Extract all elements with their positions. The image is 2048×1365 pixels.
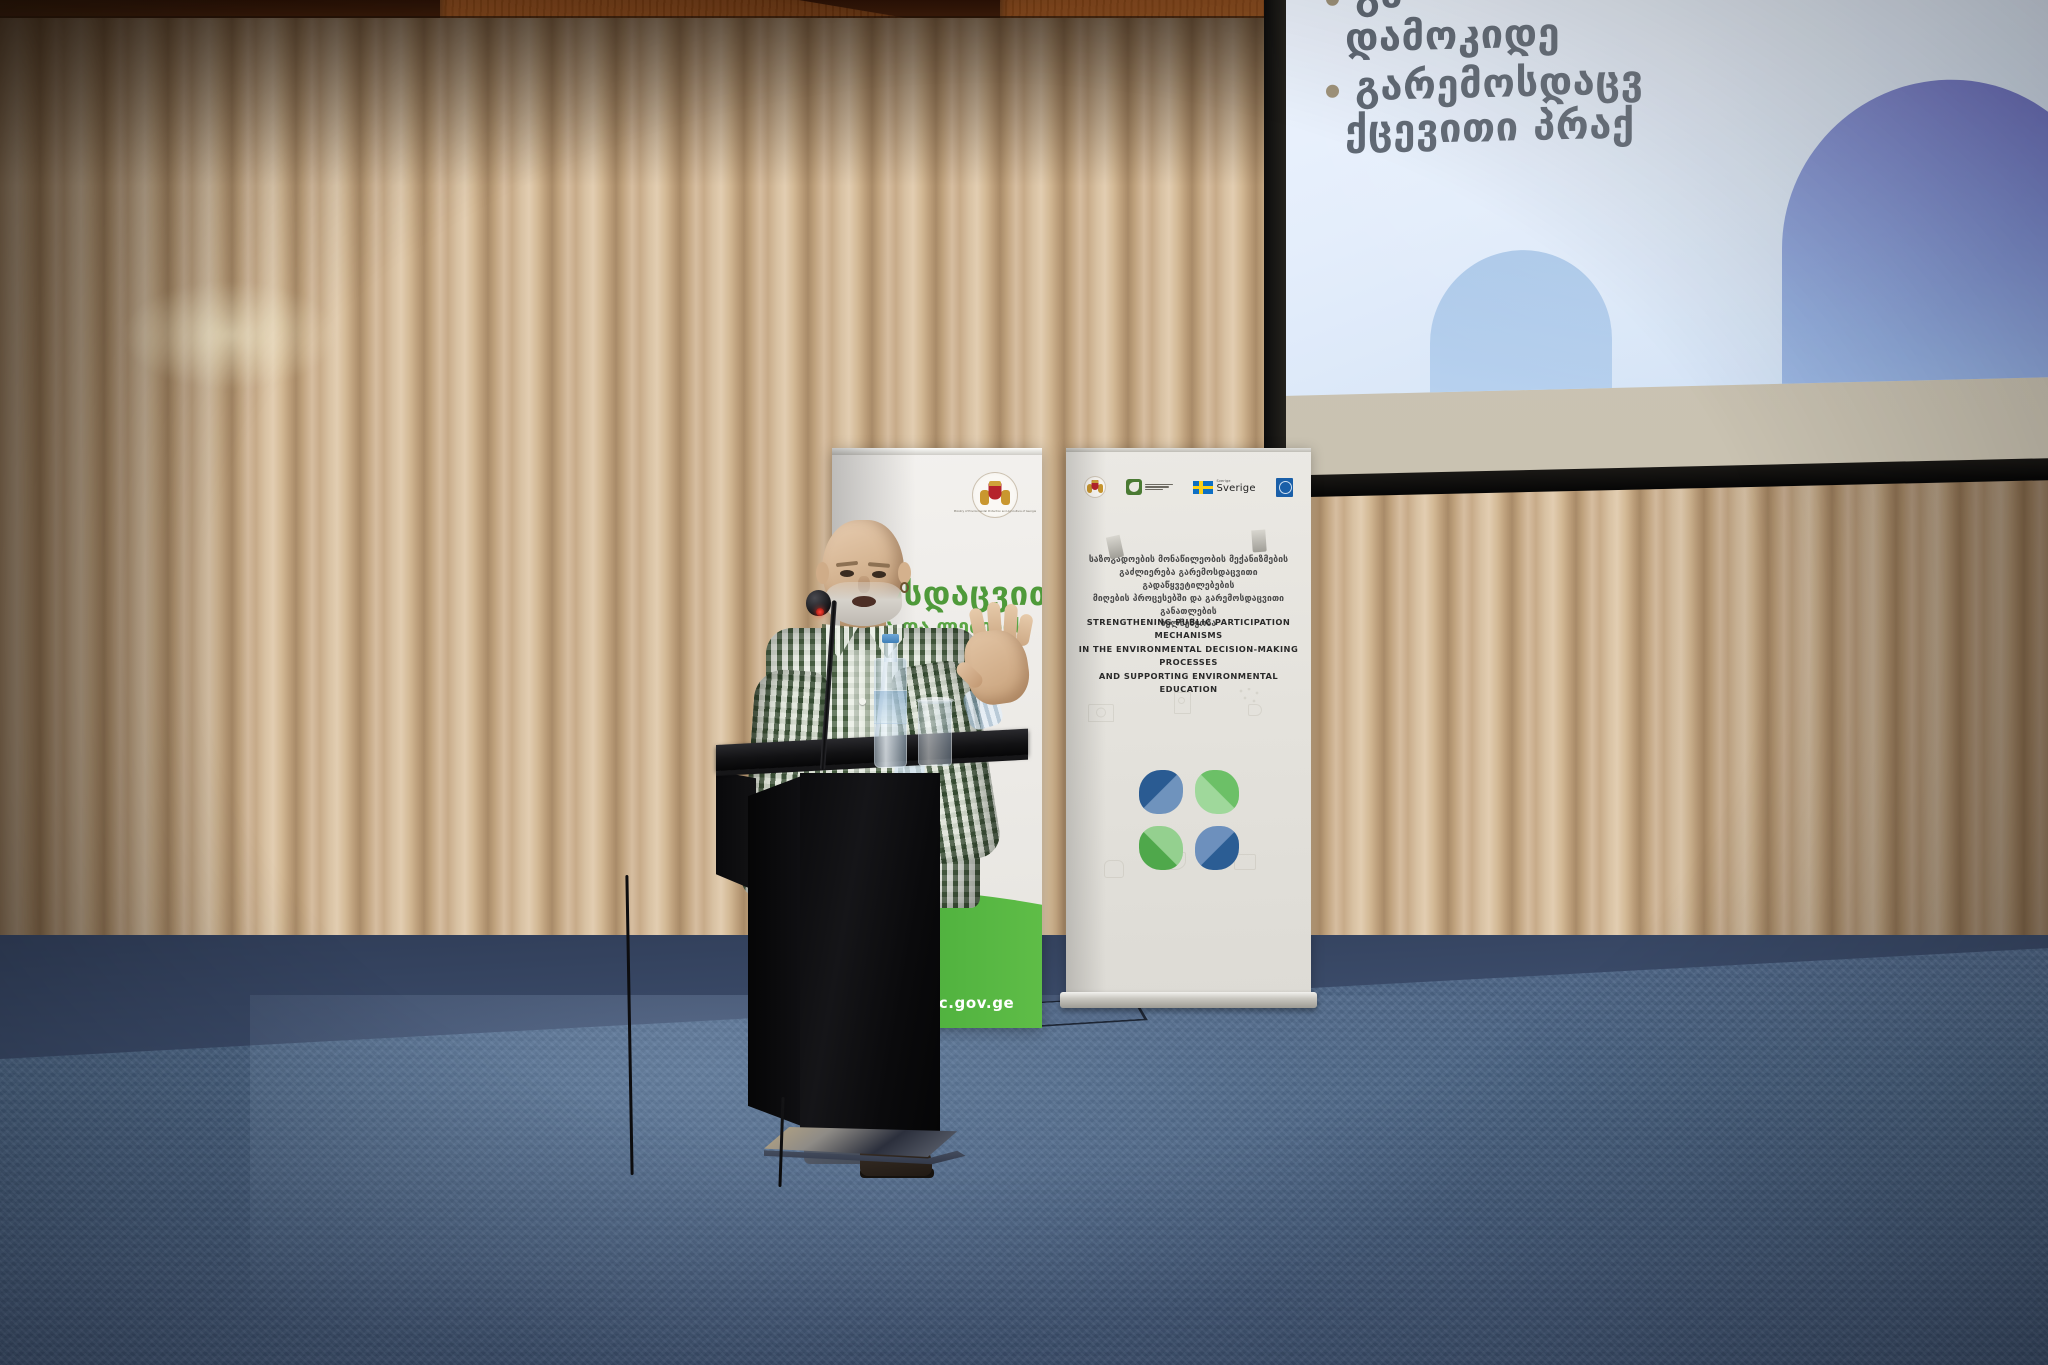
banner-base-rail xyxy=(1060,992,1317,1008)
projection-screen: გა დამოკიდე გარემოსდაცვ ქცევითი პრაქ xyxy=(1264,0,2048,498)
slide-bullet-text: გა დამოკიდე xyxy=(1355,0,1560,61)
emblem-petal-top-right xyxy=(1195,770,1239,814)
curtain-highlight xyxy=(120,280,340,390)
water-bottle-label xyxy=(874,690,907,724)
drinking-glass-rim xyxy=(916,697,954,704)
presenter-mouth xyxy=(852,596,876,607)
four-petal-emblem xyxy=(1139,770,1239,870)
sweden-flag-icon xyxy=(1193,481,1213,494)
water-bottle-cap xyxy=(882,634,899,643)
emblem-petal-top-left xyxy=(1139,770,1183,814)
banner-project-rollup: Sverige Sverige საზოგადოების მონაწილეობი… xyxy=(1066,448,1311,1038)
presenter-ear-right xyxy=(898,562,911,584)
lectern-front-panel xyxy=(800,773,940,1133)
banner-project-body: Sverige Sverige საზოგადოების მონაწილეობი… xyxy=(1066,448,1311,996)
title-en-line: IN THE ENVIRONMENTAL DECISION-MAKING PRO… xyxy=(1076,643,1301,670)
georgia-coat-of-arms-icon: Ministry of Environmental Protection and… xyxy=(972,472,1018,518)
banner-project-title-en: STRENGTHENING PUBLIC PARTICIPATION MECHA… xyxy=(1076,616,1301,697)
ministry-logo-text xyxy=(1145,484,1173,491)
screen-surface: გა დამოკიდე გარემოსდაცვ ქცევითი პრაქ xyxy=(1282,0,2048,476)
drinking-glass xyxy=(918,700,952,766)
crest-caption: Ministry of Environmental Protection and… xyxy=(954,510,1036,513)
lectern-side-panel xyxy=(748,775,804,1127)
presentation-slide: გა დამოკიდე გარემოსდაცვ ქცევითი პრაქ xyxy=(1282,0,2048,396)
undp-logo xyxy=(1276,478,1293,497)
ministry-logo xyxy=(1126,479,1173,495)
title-ka-line: მიღების პროცესებში და გარემოსდაცვითი გან… xyxy=(1074,593,1303,619)
curtain-left-shadow xyxy=(0,0,260,1060)
bullet-marker-icon xyxy=(1326,85,1339,98)
slide-bullet-text: გარემოსდაცვ ქცევითი პრაქ xyxy=(1355,60,1644,153)
hand-icon xyxy=(1104,860,1124,878)
presenter-eye-right xyxy=(872,571,886,578)
lectern-base-plate xyxy=(764,1127,974,1171)
screen-frame-left xyxy=(1264,0,1286,498)
slide-bullet-item: გარემოსდაცვ ქცევითი პრაქ xyxy=(1326,49,2048,154)
slide-bullet-list: გა დამოკიდე გარემოსდაცვ ქცევითი პრაქ xyxy=(1326,0,2048,160)
sweden-flag-logo: Sverige Sverige xyxy=(1193,480,1255,493)
presenter-eye-left xyxy=(840,570,854,577)
shirt-button xyxy=(859,698,866,705)
banner-shadow xyxy=(1066,448,1106,996)
title-en-line: AND SUPPORTING ENVIRONMENTAL EDUCATION xyxy=(1076,670,1301,697)
emblem-petal-bottom-right xyxy=(1195,826,1239,870)
title-ka-line: გაძლიერება გარემოსდაცვითი გადაწყვეტილებე… xyxy=(1074,567,1303,593)
title-ka-line: საზოგადოების მონაწილეობის მექანიზმების xyxy=(1074,554,1303,567)
slide-arch-small xyxy=(1430,248,1612,396)
microphone-led-icon xyxy=(816,608,824,616)
bullet-marker-icon xyxy=(1326,0,1339,6)
presenter-ear-left xyxy=(816,562,829,584)
water-bottle-neck xyxy=(884,640,897,662)
title-en-line: STRENGTHENING PUBLIC PARTICIPATION MECHA… xyxy=(1076,616,1301,643)
conference-hall-photo: გა დამოკიდე გარემოსდაცვ ქცევითი პრაქ xyxy=(0,0,2048,1365)
emblem-petal-bottom-left xyxy=(1139,826,1183,870)
ministry-mark-icon xyxy=(1126,479,1142,495)
banner-foot xyxy=(1251,530,1267,553)
sweden-logo-text: Sverige Sverige xyxy=(1216,480,1255,493)
megaphone-icon xyxy=(1248,704,1262,716)
